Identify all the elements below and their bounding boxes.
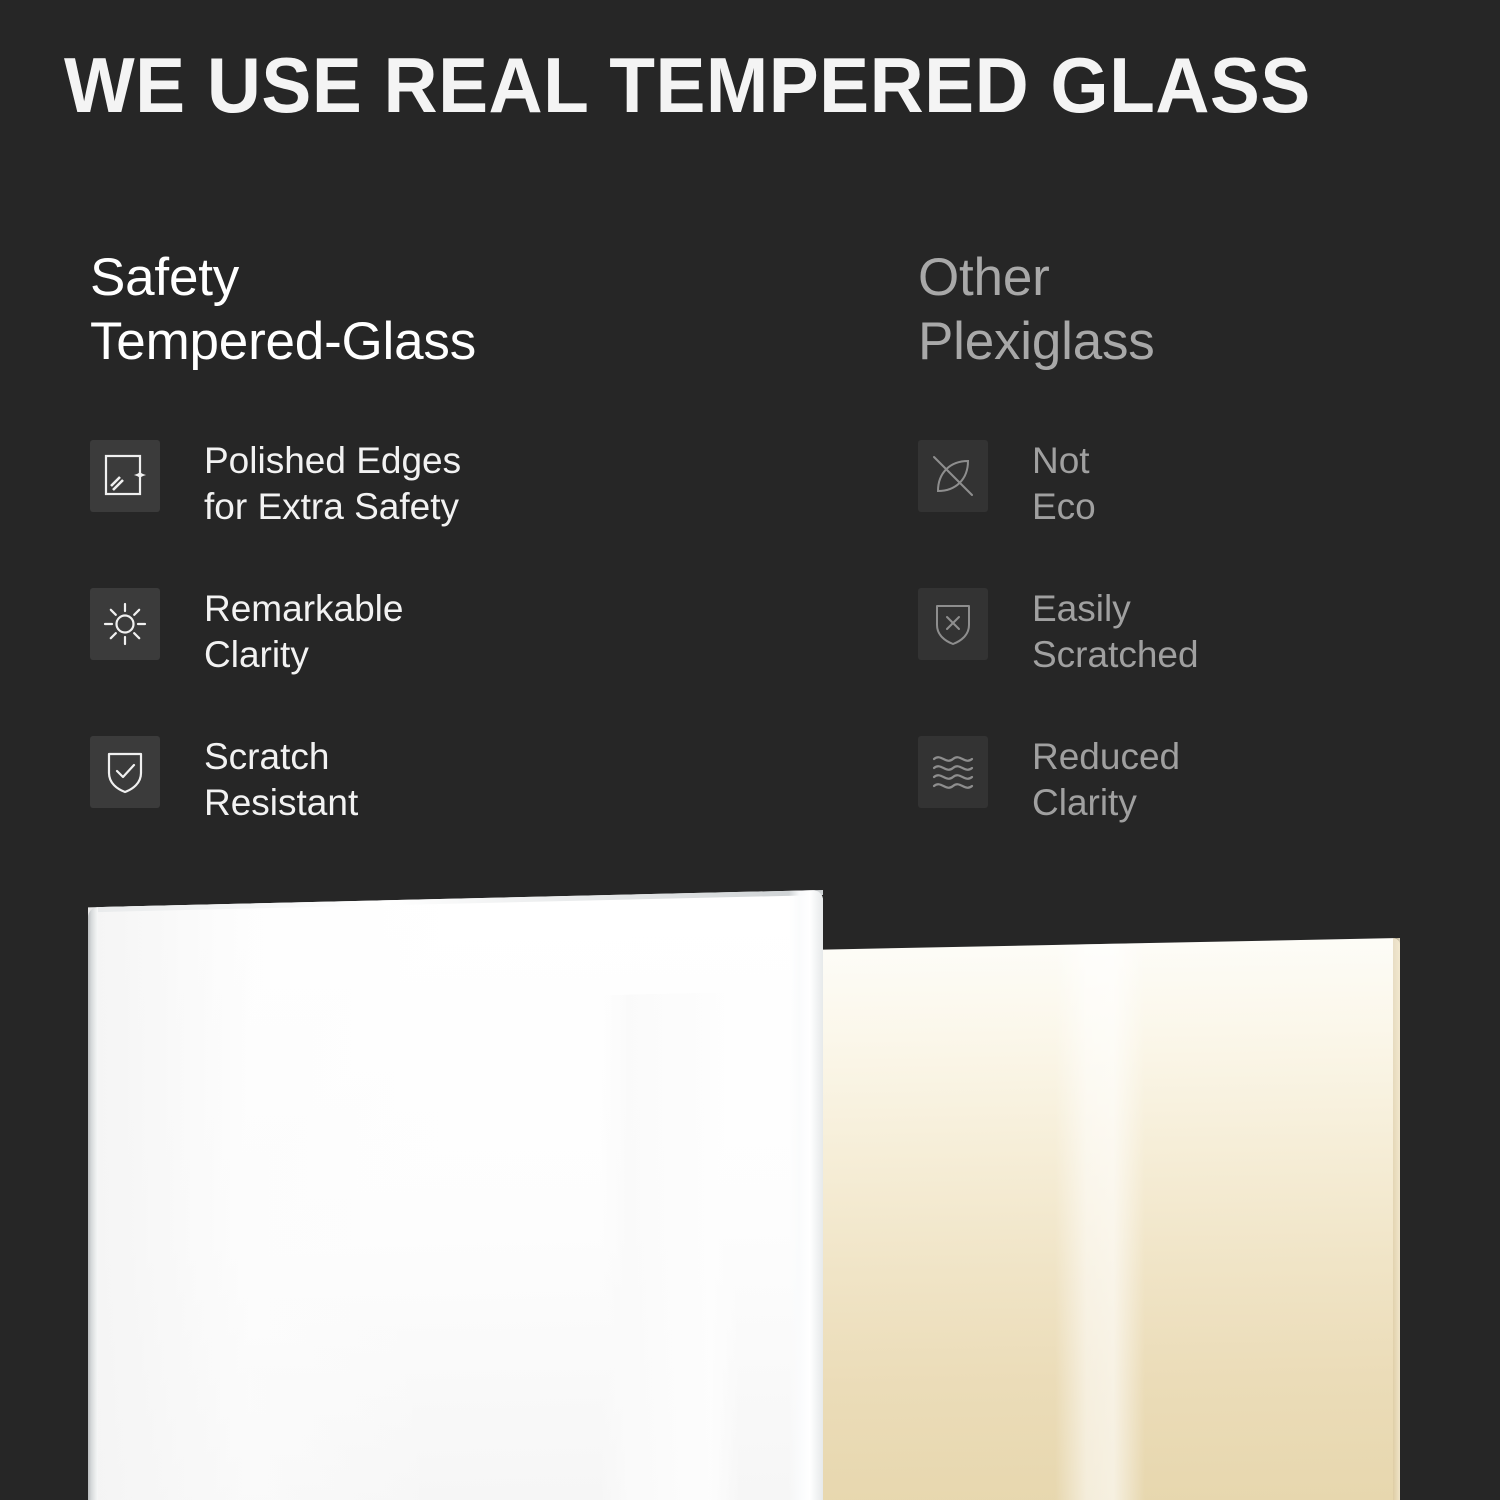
- white-tempered-glass-panel: [88, 890, 823, 1500]
- page-title: WE USE REAL TEMPERED GLASS: [64, 42, 1408, 128]
- column-heading-right: Other Plexiglass: [918, 246, 1478, 374]
- column-safety-tempered-glass: Safety Tempered-Glass Polished Edges for…: [90, 246, 790, 880]
- feature-label: Reduced Clarity: [1032, 732, 1180, 826]
- glass-polished-right-edge: [789, 890, 823, 1500]
- shield-x-icon: [918, 588, 988, 660]
- feature-row: Easily Scratched: [918, 584, 1478, 732]
- feature-label: Polished Edges for Extra Safety: [204, 436, 461, 530]
- plexiglass-right-edge: [1393, 938, 1400, 1500]
- feature-label: Remarkable Clarity: [204, 584, 403, 678]
- feature-label: Scratch Resistant: [204, 732, 358, 826]
- cream-plexiglass-panel: [800, 938, 1400, 1500]
- leaf-slashed-not-eco-icon: [918, 440, 988, 512]
- feature-row: Not Eco: [918, 436, 1478, 584]
- feature-row: Scratch Resistant: [90, 732, 790, 880]
- sun-brightness-icon: [90, 588, 160, 660]
- feature-list-right: Not Eco Easily Scratched: [918, 436, 1478, 880]
- feature-row: Reduced Clarity: [918, 732, 1478, 880]
- plexiglass-reflection: [1055, 943, 1145, 1500]
- feature-label: Easily Scratched: [1032, 584, 1199, 678]
- column-heading-left: Safety Tempered-Glass: [90, 246, 790, 374]
- glass-reflection-band: [600, 992, 740, 1500]
- wavy-lines-distortion-icon: [918, 736, 988, 808]
- feature-row: Remarkable Clarity: [90, 584, 790, 732]
- feature-list-left: Polished Edges for Extra Safety Remarkab…: [90, 436, 790, 880]
- feature-label: Not Eco: [1032, 436, 1096, 530]
- polished-glass-pane-sparkle-icon: [90, 440, 160, 512]
- product-comparison-photo: [0, 860, 1500, 1500]
- feature-row: Polished Edges for Extra Safety: [90, 436, 790, 584]
- shield-check-icon: [90, 736, 160, 808]
- column-other-plexiglass: Other Plexiglass Not Eco: [918, 246, 1478, 880]
- glass-polished-left-edge: [88, 907, 98, 1500]
- infographic-canvas: WE USE REAL TEMPERED GLASS Safety Temper…: [0, 0, 1500, 1500]
